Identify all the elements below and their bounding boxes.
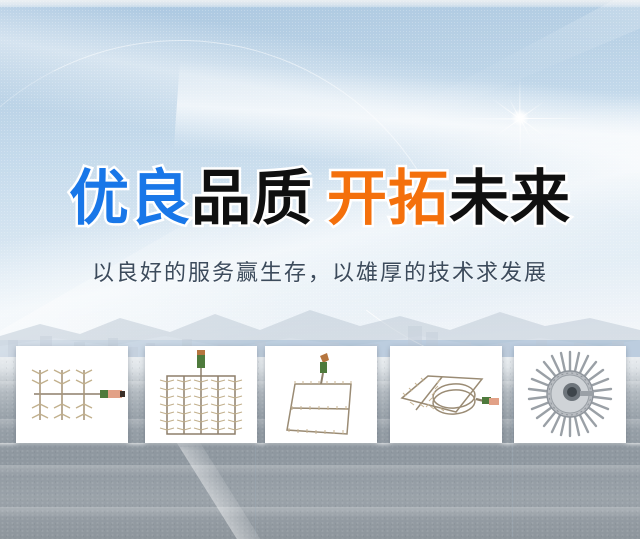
flare-ray	[519, 119, 520, 161]
plating-rack-star-icon	[514, 346, 626, 443]
plating-rack-ring-icon	[390, 346, 502, 443]
product-card-radial-star-plating-rack[interactable]	[514, 346, 626, 443]
floor-streak	[0, 465, 640, 476]
headline-segment-3: 开拓	[327, 164, 449, 234]
product-card-strip	[16, 346, 628, 444]
headline-segment-4: 未来	[449, 164, 571, 234]
flare-ray	[450, 118, 520, 119]
plating-rack-barbed-icon	[145, 346, 257, 443]
page-subtitle: 以良好的服务赢生存，以雄厚的技术求发展	[0, 259, 640, 289]
floor-streak	[0, 507, 640, 518]
plating-rack-frame-icon	[265, 346, 377, 443]
headline-segment-1: 优良	[69, 164, 191, 234]
headline-segment-2: 品质	[191, 164, 313, 234]
product-card-flat-frame-plating-rack[interactable]	[265, 346, 377, 443]
product-card-comb-tooth-plating-rack[interactable]	[16, 346, 128, 443]
product-card-double-row-barbed-rack[interactable]	[145, 346, 257, 443]
plating-rack-comb-icon	[16, 346, 128, 443]
promotional-banner: 优良品质开拓未来 以良好的服务赢生存，以雄厚的技术求发展	[0, 0, 640, 539]
product-card-ring-and-frame-plating-rack[interactable]	[390, 346, 502, 443]
page-title: 优良品质开拓未来	[0, 167, 640, 231]
